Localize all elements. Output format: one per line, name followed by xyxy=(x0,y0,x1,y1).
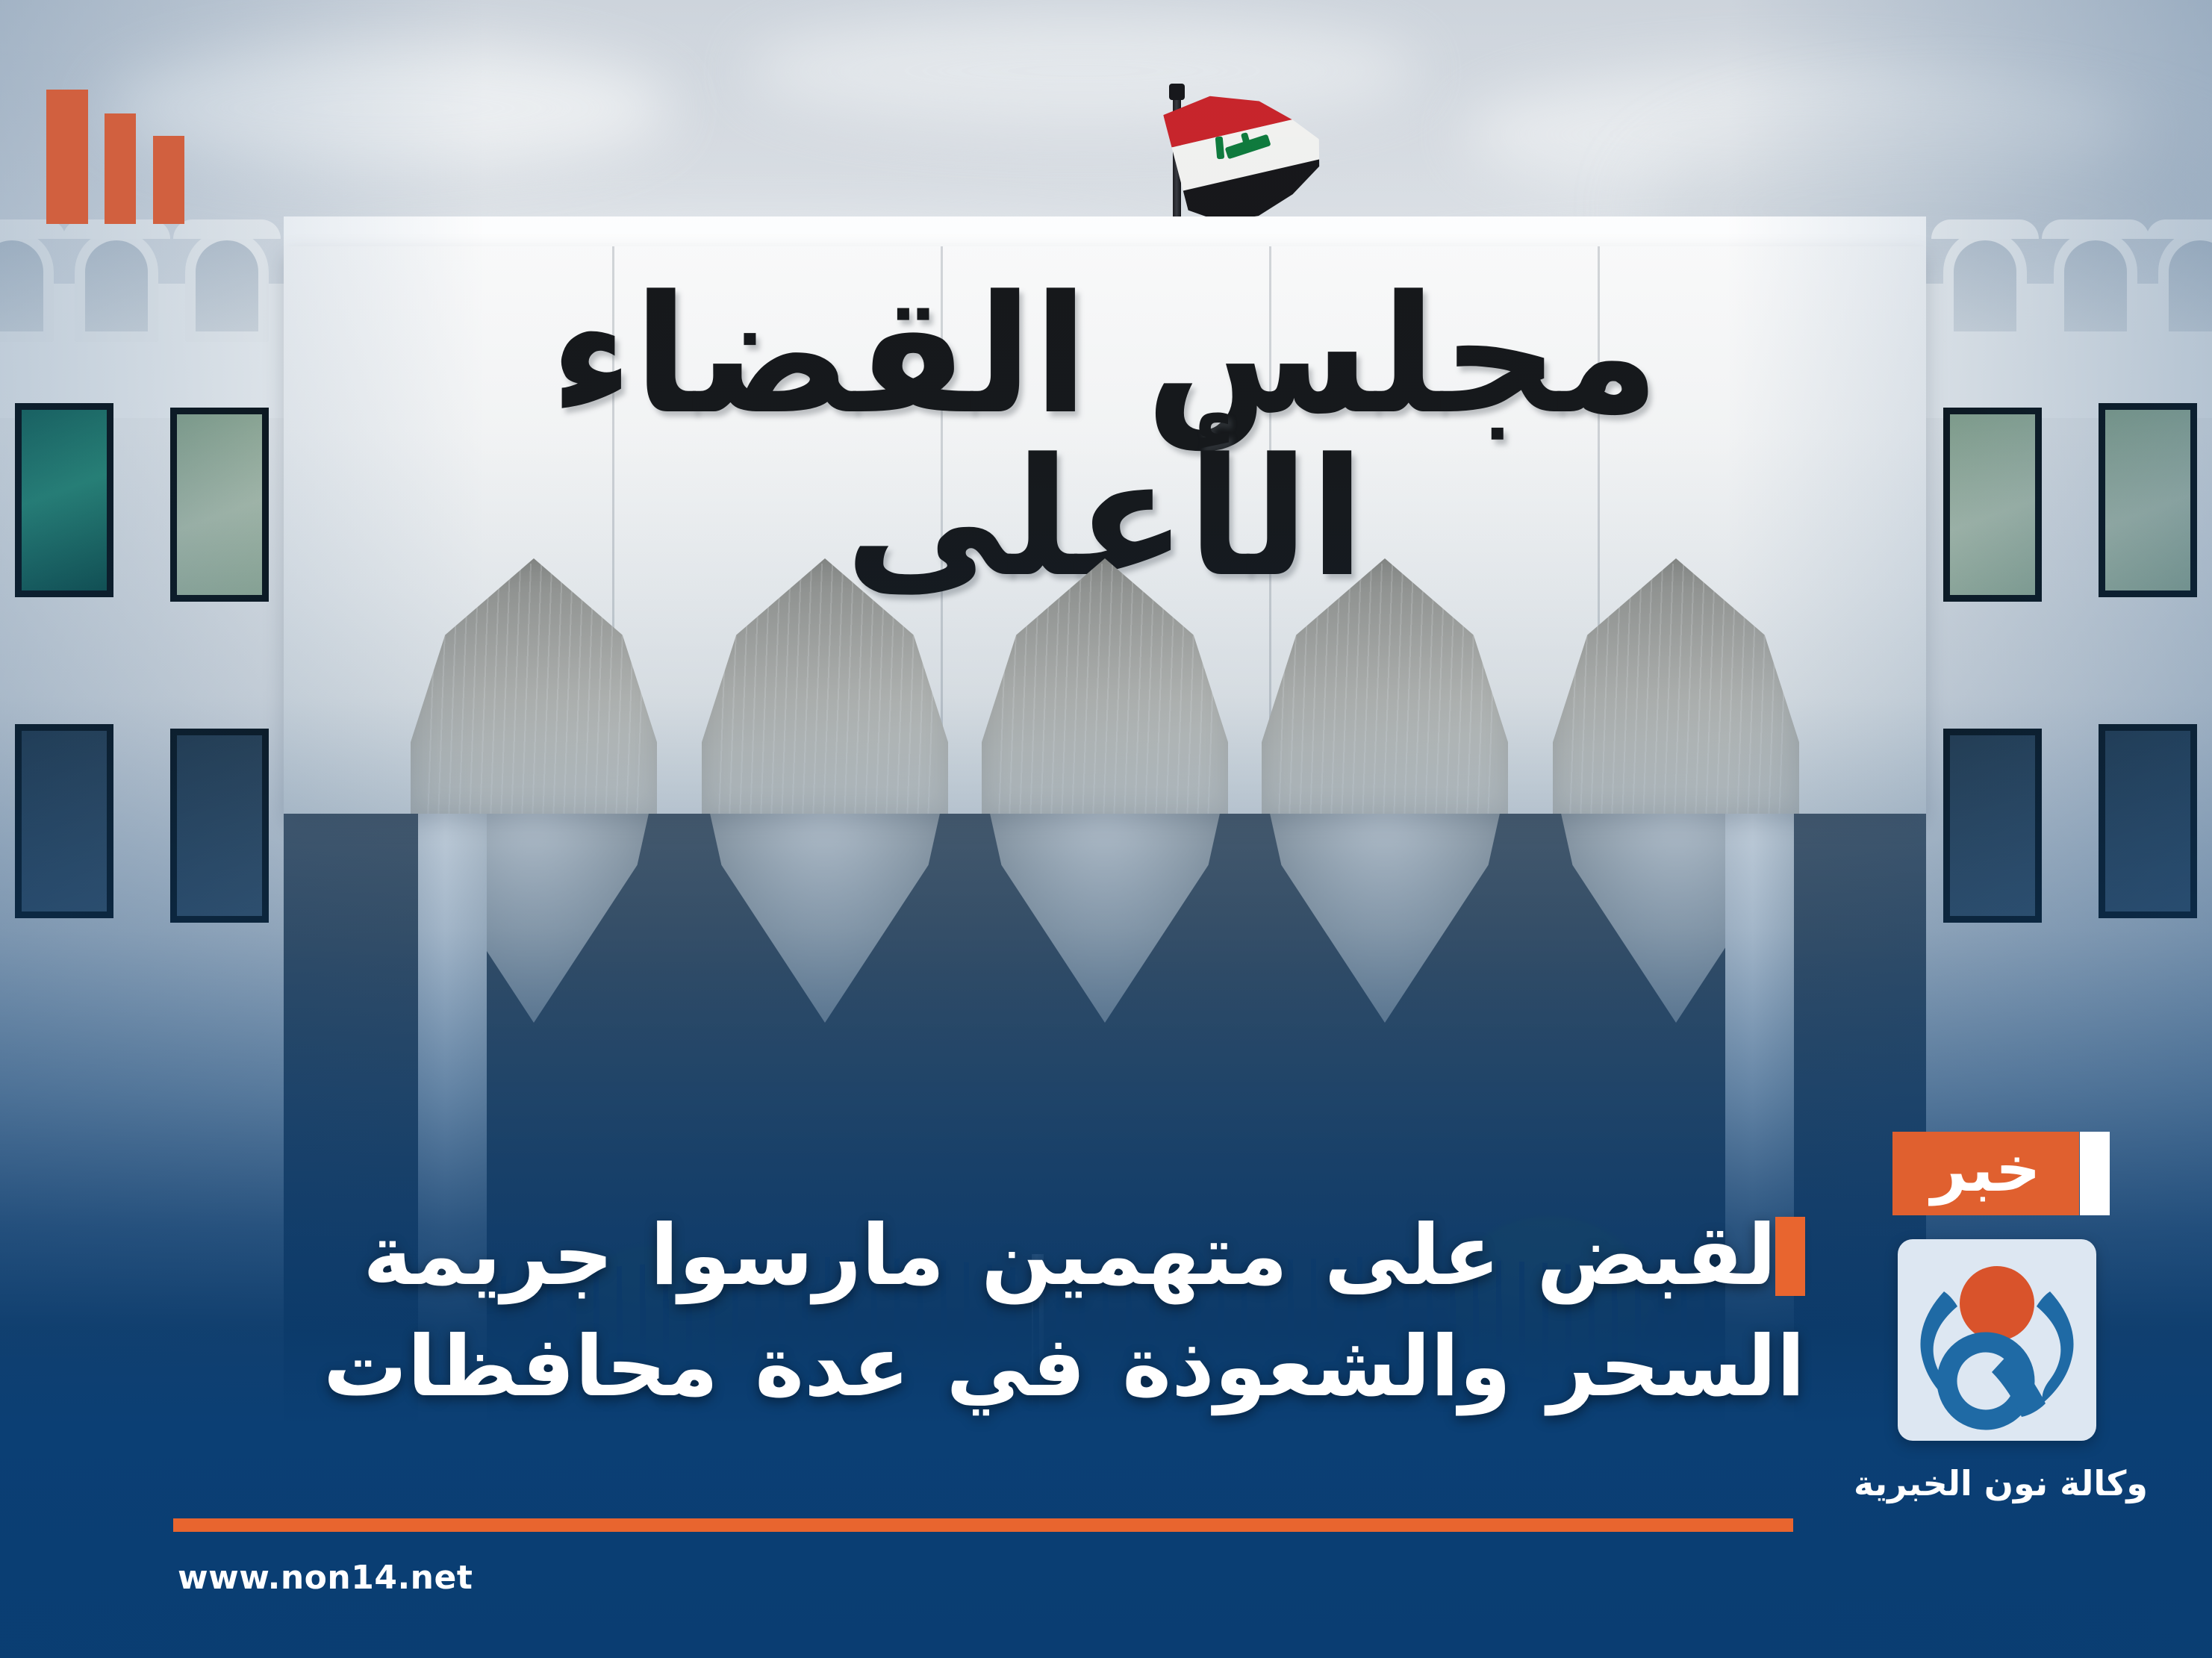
news-badge: خبر xyxy=(1892,1132,2079,1215)
agency-logo[interactable] xyxy=(1898,1239,2096,1441)
news-card: مجلس القضاء الأعلى القبض على متهمين مارس… xyxy=(0,0,2212,1658)
orange-bar xyxy=(46,90,88,224)
orange-bar xyxy=(105,113,136,224)
news-badge-tail xyxy=(2080,1132,2110,1215)
website-url[interactable]: www.non14.net xyxy=(178,1559,473,1597)
news-badge-label: خبر xyxy=(1931,1138,2040,1200)
headline-line-1: القبض على متهمين مارسوا جريمة xyxy=(181,1200,1805,1312)
agency-name: وكالة نون الخبرية xyxy=(1792,1463,2210,1503)
orange-bar xyxy=(153,136,184,224)
headline-line-2: السحر والشعوذة في عدة محافظات xyxy=(181,1312,1805,1423)
logo-mark-icon xyxy=(1898,1239,2096,1441)
headline: القبض على متهمين مارسوا جريمة السحر والش… xyxy=(181,1200,1805,1423)
footer-divider xyxy=(173,1518,1793,1532)
headline-accent-bar xyxy=(1775,1217,1805,1296)
